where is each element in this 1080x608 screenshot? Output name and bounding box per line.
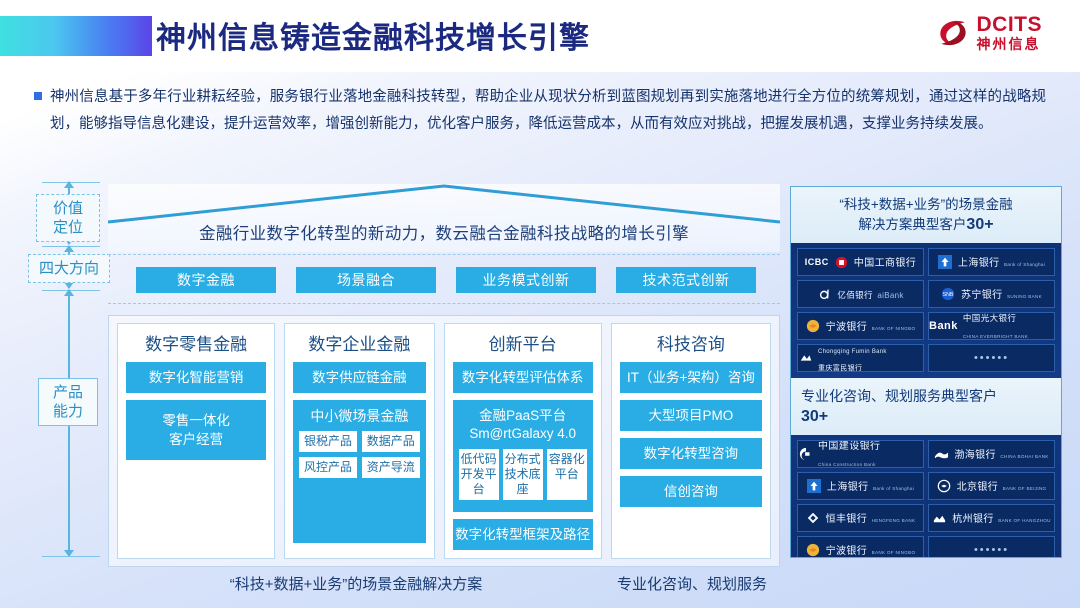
logo-tile-suning-bank[interactable]: SNB 苏宁银行 SUNING BANK: [928, 280, 1055, 308]
logo-tile-cn: 宁波银行: [826, 546, 868, 557]
bohai-bank-icon: [934, 447, 949, 462]
logo-tile-text: 杭州银行 BANK OF HANGZHOU: [952, 510, 1051, 527]
logo-tile-cn: 中国建设银行: [818, 441, 880, 452]
product-block-framework[interactable]: 数字化转型框架及路径: [453, 519, 593, 550]
product-group-items: 银税产品 数据产品 风控产品 资产导流: [299, 431, 419, 478]
product-block[interactable]: 数字化转型咨询: [620, 438, 762, 469]
logo-tile-text: 中国建设银行 China Construction Bank: [818, 440, 923, 468]
product-mini-item[interactable]: 分布式技术底座: [503, 449, 543, 500]
customer-group2-logo-grid: 中国建设银行 China Construction Bank 渤海银行 CHIN…: [791, 435, 1061, 558]
product-column-title: 数字企业金融: [293, 330, 425, 355]
customer-group2-heading-prefix: 专业化咨询、规划服务典型客户: [801, 388, 997, 404]
product-capability-panel: 数字零售金融 数字化智能营销 零售一体化 客户经营 数字企业金融 数字供应链金融…: [108, 315, 780, 567]
product-column-title: 创新平台: [453, 330, 593, 355]
logo-tile-everbright[interactable]: Bank 中国光大银行 CHINA EVERBRIGHT BANK: [928, 312, 1055, 340]
logo-tile-cn: 中国光大银行: [963, 313, 1016, 323]
product-block[interactable]: 零售一体化 客户经营: [126, 400, 266, 460]
logo-tile-en: Bank of Shanghai: [1004, 262, 1045, 267]
page-title: 神州信息铸造金融科技增长引擎: [156, 13, 590, 57]
logo-tile-en: aiBank: [877, 291, 903, 300]
bank-of-hangzhou-icon: [932, 511, 947, 526]
logo-tile-cn: 北京银行: [957, 482, 999, 493]
logo-tile-en: BANK OF HANGZHOU: [998, 518, 1051, 523]
logo-tile-text: 渤海银行 CHINA BOHAI BANK: [954, 446, 1048, 463]
product-block[interactable]: 信创咨询: [620, 476, 762, 507]
logo-tile-en: CHINA BOHAI BANK: [1000, 454, 1048, 459]
product-mini-item[interactable]: 资产导流: [362, 457, 420, 478]
product-column-innovation: 创新平台 数字化转型评估体系 金融PaaS平台 Sm@rtGalaxy 4.0 …: [444, 323, 602, 559]
hengfeng-bank-icon: [806, 511, 821, 526]
direction-chip-3[interactable]: 业务模式创新: [456, 267, 596, 293]
product-column-title: 科技咨询: [620, 330, 762, 355]
direction-chip-1[interactable]: 数字金融: [136, 267, 276, 293]
product-block[interactable]: IT（业务+架构）咨询: [620, 362, 762, 393]
bullet-marker-icon: [34, 92, 42, 100]
logo-tile-cn: 渤海银行: [954, 450, 996, 461]
logo-tile-cn: 苏宁银行: [961, 290, 1003, 301]
logo-tile-bank-of-hangzhou[interactable]: 杭州银行 BANK OF HANGZHOU: [928, 504, 1055, 532]
logo-tile-text: 亿佰银行 aiBank: [837, 286, 903, 303]
logo-tile-text: 宁波银行 BANK OF NINGBO: [826, 542, 916, 558]
product-column-consulting: 科技咨询 IT（业务+架构）咨询 大型项目PMO 数字化转型咨询 信创咨询: [611, 323, 771, 559]
logo-tile-en: Bank of Shanghai: [873, 486, 914, 491]
logo-text-cn: 神州信息: [977, 37, 1043, 51]
logo-tile-text: 中国光大银行 CHINA EVERBRIGHT BANK: [963, 312, 1054, 340]
bank-of-shanghai-icon: [938, 255, 953, 270]
direction-chip-4[interactable]: 技术范式创新: [616, 267, 756, 293]
aibank-icon: [817, 287, 832, 302]
logo-tile-en: BANK OF BEIJING: [1003, 486, 1047, 491]
bank-of-shanghai-icon: [807, 479, 822, 494]
logo-tile-en: BANK OF NINGBO: [872, 550, 916, 555]
slide-header: 神州信息铸造金融科技增长引擎 DCITS 神州信息: [0, 0, 1080, 72]
logo-tile-text: 中国工商银行: [854, 254, 916, 271]
product-block[interactable]: 数字化转型评估体系: [453, 362, 593, 393]
product-mini-item[interactable]: 数据产品: [362, 431, 420, 452]
logo-tile-cn: 上海银行: [958, 258, 1000, 269]
logo-tile-text: 上海银行 Bank of Shanghai: [958, 254, 1045, 271]
product-block[interactable]: 数字供应链金融: [293, 362, 425, 393]
customer-group1-heading-prefix: “科技+数据+业务”的场景金融: [839, 197, 1012, 212]
roof-shape-icon: [108, 184, 780, 224]
bank-of-ningbo-icon: [806, 319, 821, 334]
footer-label-solution: “科技+数据+业务”的场景金融解决方案: [108, 573, 604, 594]
logo-tile-fumin-bank[interactable]: Chongqing Fumin Bank 重庆富民银行: [797, 344, 924, 372]
company-logo: DCITS 神州信息: [935, 14, 1043, 51]
logo-tile-ccb[interactable]: 中国建设银行 China Construction Bank: [797, 440, 924, 468]
logo-tile-cn: 中国工商银行: [854, 258, 916, 269]
logo-tile-cn: 亿佰银行: [837, 290, 873, 300]
product-group-sme: 中小微场景金融 银税产品 数据产品 风控产品 资产导流: [293, 400, 425, 543]
logo-tile-more-2[interactable]: ••••••: [928, 536, 1055, 558]
product-block[interactable]: 大型项目PMO: [620, 400, 762, 431]
main-content-column: 金融行业数字化转型的新动力，数云融合金融科技战略的增长引擎 数字金融 场景融合 …: [108, 184, 780, 594]
logo-tile-en: SUNING BANK: [1007, 294, 1042, 299]
customer-group2-count: 30+: [801, 408, 828, 425]
bank-of-ningbo-icon: [806, 543, 821, 558]
product-group-title: 中小微场景金融: [299, 407, 419, 425]
four-directions-row: 数字金融 场景融合 业务模式创新 技术范式创新: [136, 267, 756, 293]
product-footer-labels: “科技+数据+业务”的场景金融解决方案 专业化咨询、规划服务: [108, 573, 780, 594]
customer-group1-heading-suffix: 解决方案典型客户: [858, 217, 966, 232]
logo-tile-aibank[interactable]: 亿佰银行 aiBank: [797, 280, 924, 308]
logo-tile-text: 恒丰银行 HENGFENG BANK: [826, 510, 916, 527]
logo-tile-text: 北京银行 BANK OF BEIJING: [957, 478, 1047, 495]
ccb-icon: [798, 447, 813, 462]
fumin-bank-icon: [798, 351, 813, 366]
product-column-retail: 数字零售金融 数字化智能营销 零售一体化 客户经营: [117, 323, 275, 559]
value-proposition-box: 金融行业数字化转型的新动力，数云融合金融科技战略的增长引擎: [108, 184, 780, 252]
header-accent-bar: [0, 16, 152, 56]
logo-tile-text: 苏宁银行 SUNING BANK: [961, 286, 1042, 303]
logo-tile-en: BANK OF NINGBO: [872, 326, 916, 331]
logo-tile-en: CHINA EVERBRIGHT BANK: [963, 334, 1028, 339]
product-mini-item[interactable]: 容器化平台: [547, 449, 587, 500]
left-axis-rail: 价值 定位 四大方向 产品 能力: [30, 180, 108, 560]
logo-tile-text: 宁波银行 BANK OF NINGBO: [826, 318, 916, 335]
more-dots-icon: ••••••: [974, 544, 1009, 556]
logo-tile-cn: 杭州银行: [952, 514, 994, 525]
logo-tile-text: Chongqing Fumin Bank 重庆富民银行: [818, 344, 923, 372]
rail-divider-bottom: [42, 556, 100, 557]
product-mini-item[interactable]: 风控产品: [299, 457, 357, 478]
logo-tile-bank-of-ningbo[interactable]: 宁波银行 BANK OF NINGBO: [797, 312, 924, 340]
customer-group2-heading: 专业化咨询、规划服务典型客户 30+: [791, 378, 1061, 435]
customer-group1-logo-grid: ICBC 中国工商银行 上海银行 Bank of Shanghai: [791, 243, 1061, 378]
logo-tile-bohai-bank[interactable]: 渤海银行 CHINA BOHAI BANK: [928, 440, 1055, 468]
rail-label-four-directions: 四大方向: [28, 254, 110, 283]
everbright-wordmark: Bank: [929, 320, 958, 332]
product-block[interactable]: 数字化智能营销: [126, 362, 266, 393]
logo-tile-bank-of-shanghai-2[interactable]: 上海银行 Bank of Shanghai: [797, 472, 924, 500]
logo-wordmark: DCITS 神州信息: [977, 14, 1043, 51]
product-group-items: 低代码开发平台 分布式技术底座 容器化平台: [459, 449, 587, 500]
intro-paragraph: 神州信息基于多年行业耕耘经验，服务银行业落地金融科技转型，帮助企业从现状分析到蓝…: [34, 84, 1046, 138]
dashed-separator-bottom: [108, 303, 780, 304]
logo-tile-bank-of-shanghai[interactable]: 上海银行 Bank of Shanghai: [928, 248, 1055, 276]
logo-tile-hengfeng-bank[interactable]: 恒丰银行 HENGFENG BANK: [797, 504, 924, 532]
logo-tile-icbc[interactable]: ICBC 中国工商银行: [797, 248, 924, 276]
customer-group1-heading: “科技+数据+业务”的场景金融 解决方案典型客户30+: [791, 187, 1061, 243]
logo-tile-cn: 重庆富民银行: [818, 365, 862, 372]
icbc-icon: [834, 255, 849, 270]
suning-bank-icon: SNB: [941, 287, 956, 302]
logo-tile-en: Chongqing Fumin Bank: [818, 349, 887, 355]
more-dots-icon: ••••••: [974, 352, 1009, 364]
rail-label-product-capability: 产品 能力: [38, 378, 98, 426]
dcits-swirl-icon: [935, 15, 971, 51]
logo-tile-more-1[interactable]: ••••••: [928, 344, 1055, 372]
dashed-separator-top: [108, 254, 780, 255]
customer-group1-count: 30+: [966, 216, 993, 233]
logo-tile-en: HENGFENG BANK: [872, 518, 916, 523]
logo-tile-en: China Construction Bank: [818, 462, 876, 467]
logo-tile-bank-of-ningbo-2[interactable]: 宁波银行 BANK OF NINGBO: [797, 536, 924, 558]
product-column-enterprise: 数字企业金融 数字供应链金融 中小微场景金融 银税产品 数据产品 风控产品 资产…: [284, 323, 434, 559]
product-mini-item[interactable]: 低代码开发平台: [459, 449, 499, 500]
logo-tile-cn: 宁波银行: [826, 322, 868, 333]
rail-label-value-position: 价值 定位: [36, 194, 100, 242]
logo-text-en: DCITS: [977, 14, 1043, 35]
value-statement: 金融行业数字化转型的新动力，数云融合金融科技战略的增长引擎: [108, 220, 780, 244]
slide-root: 神州信息铸造金融科技增长引擎 DCITS 神州信息 神州信息基于多年行业耕耘经验…: [0, 0, 1080, 608]
column-spacer: [126, 467, 266, 550]
icbc-wordmark: ICBC: [805, 257, 829, 267]
footer-label-consulting: 专业化咨询、规划服务: [604, 573, 780, 594]
logo-tile-cn: 恒丰银行: [826, 514, 868, 525]
product-group-paas: 金融PaaS平台 Sm@rtGalaxy 4.0 低代码开发平台 分布式技术底座…: [453, 400, 593, 512]
direction-chip-2[interactable]: 场景融合: [296, 267, 436, 293]
customer-logos-panel: “科技+数据+业务”的场景金融 解决方案典型客户30+ ICBC 中国工商银行 …: [790, 186, 1062, 558]
bank-of-beijing-icon: [937, 479, 952, 494]
product-column-title: 数字零售金融: [126, 330, 266, 355]
logo-tile-bank-of-beijing[interactable]: 北京银行 BANK OF BEIJING: [928, 472, 1055, 500]
intro-text: 神州信息基于多年行业耕耘经验，服务银行业落地金融科技转型，帮助企业从现状分析到蓝…: [50, 84, 1046, 138]
logo-tile-text: 上海银行 Bank of Shanghai: [827, 478, 914, 495]
product-group-title: 金融PaaS平台 Sm@rtGalaxy 4.0: [459, 407, 587, 443]
logo-tile-cn: 上海银行: [827, 482, 869, 493]
column-spacer: [620, 514, 762, 550]
svg-text:SNB: SNB: [943, 292, 954, 298]
product-mini-item[interactable]: 银税产品: [299, 431, 357, 452]
